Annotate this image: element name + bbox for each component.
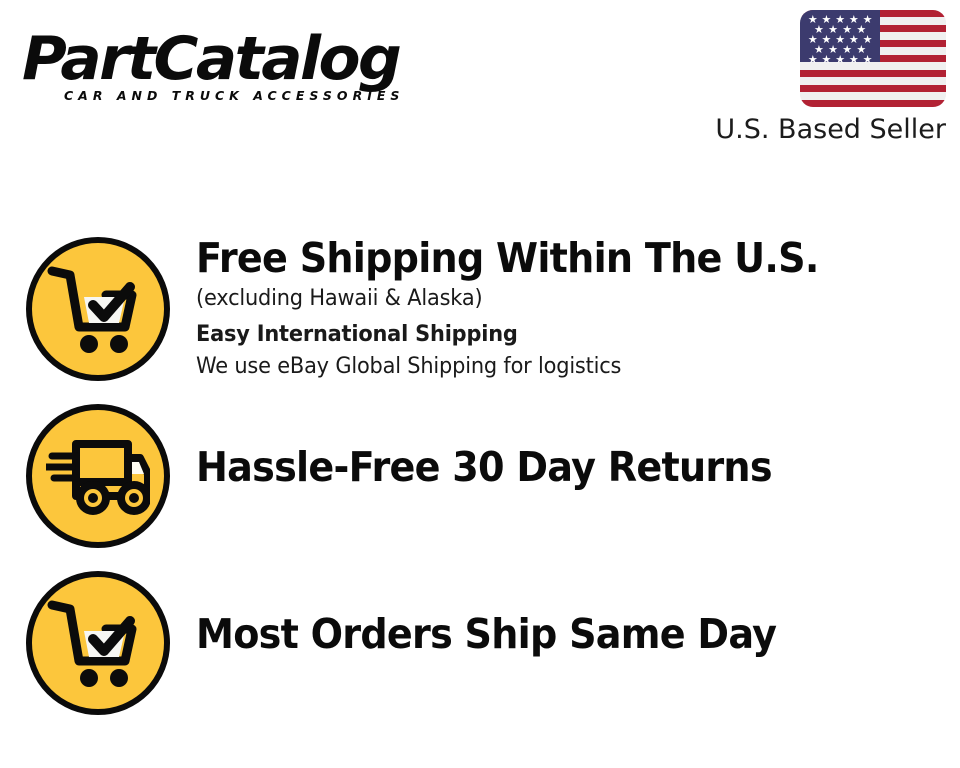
feature-headline: Hassle-Free 30 Day Returns [196, 442, 907, 492]
delivery-truck-icon [26, 404, 170, 548]
flag-stars: ★★★★★ ★★★★ ★★★★★ ★★★★ ★★★★★ [800, 10, 880, 62]
feature-headline: Free Shipping Within The U.S. [196, 233, 907, 283]
feature-icon-wrap [0, 398, 196, 548]
feature-icon-wrap [0, 231, 196, 381]
shipping-info-banner: PartCatalog CAR AND TRUCK ACCESSORIES ★★… [0, 0, 960, 768]
feature-subnote: We use eBay Global Shipping for logistic… [196, 351, 922, 382]
shopping-cart-check-icon [26, 571, 170, 715]
brand-logo: PartCatalog CAR AND TRUCK ACCESSORIES [22, 26, 492, 116]
feature-list: Free Shipping Within The U.S. (excluding… [0, 231, 960, 732]
flag-canton: ★★★★★ ★★★★ ★★★★★ ★★★★ ★★★★★ [800, 10, 880, 62]
us-flag-icon: ★★★★★ ★★★★ ★★★★★ ★★★★ ★★★★★ [800, 10, 946, 107]
feature-row-free-shipping: Free Shipping Within The U.S. (excluding… [0, 231, 960, 398]
feature-subheadline: Easy International Shipping [196, 319, 922, 350]
shopping-cart-check-icon [26, 237, 170, 381]
feature-icon-wrap [0, 565, 196, 715]
feature-text-block: Free Shipping Within The U.S. (excluding… [196, 231, 960, 382]
feature-row-returns: Hassle-Free 30 Day Returns [0, 398, 960, 565]
us-based-seller-badge: ★★★★★ ★★★★ ★★★★★ ★★★★ ★★★★★ U.S. Based S… [686, 10, 946, 145]
feature-headline: Most Orders Ship Same Day [196, 609, 907, 659]
feature-text-block: Hassle-Free 30 Day Returns [196, 398, 960, 492]
feature-note: (excluding Hawaii & Alaska) [196, 283, 922, 314]
feature-text-block: Most Orders Ship Same Day [196, 565, 960, 659]
us-based-seller-label: U.S. Based Seller [715, 114, 946, 145]
feature-row-same-day-ship: Most Orders Ship Same Day [0, 565, 960, 732]
brand-wordmark: PartCatalog [22, 26, 501, 92]
